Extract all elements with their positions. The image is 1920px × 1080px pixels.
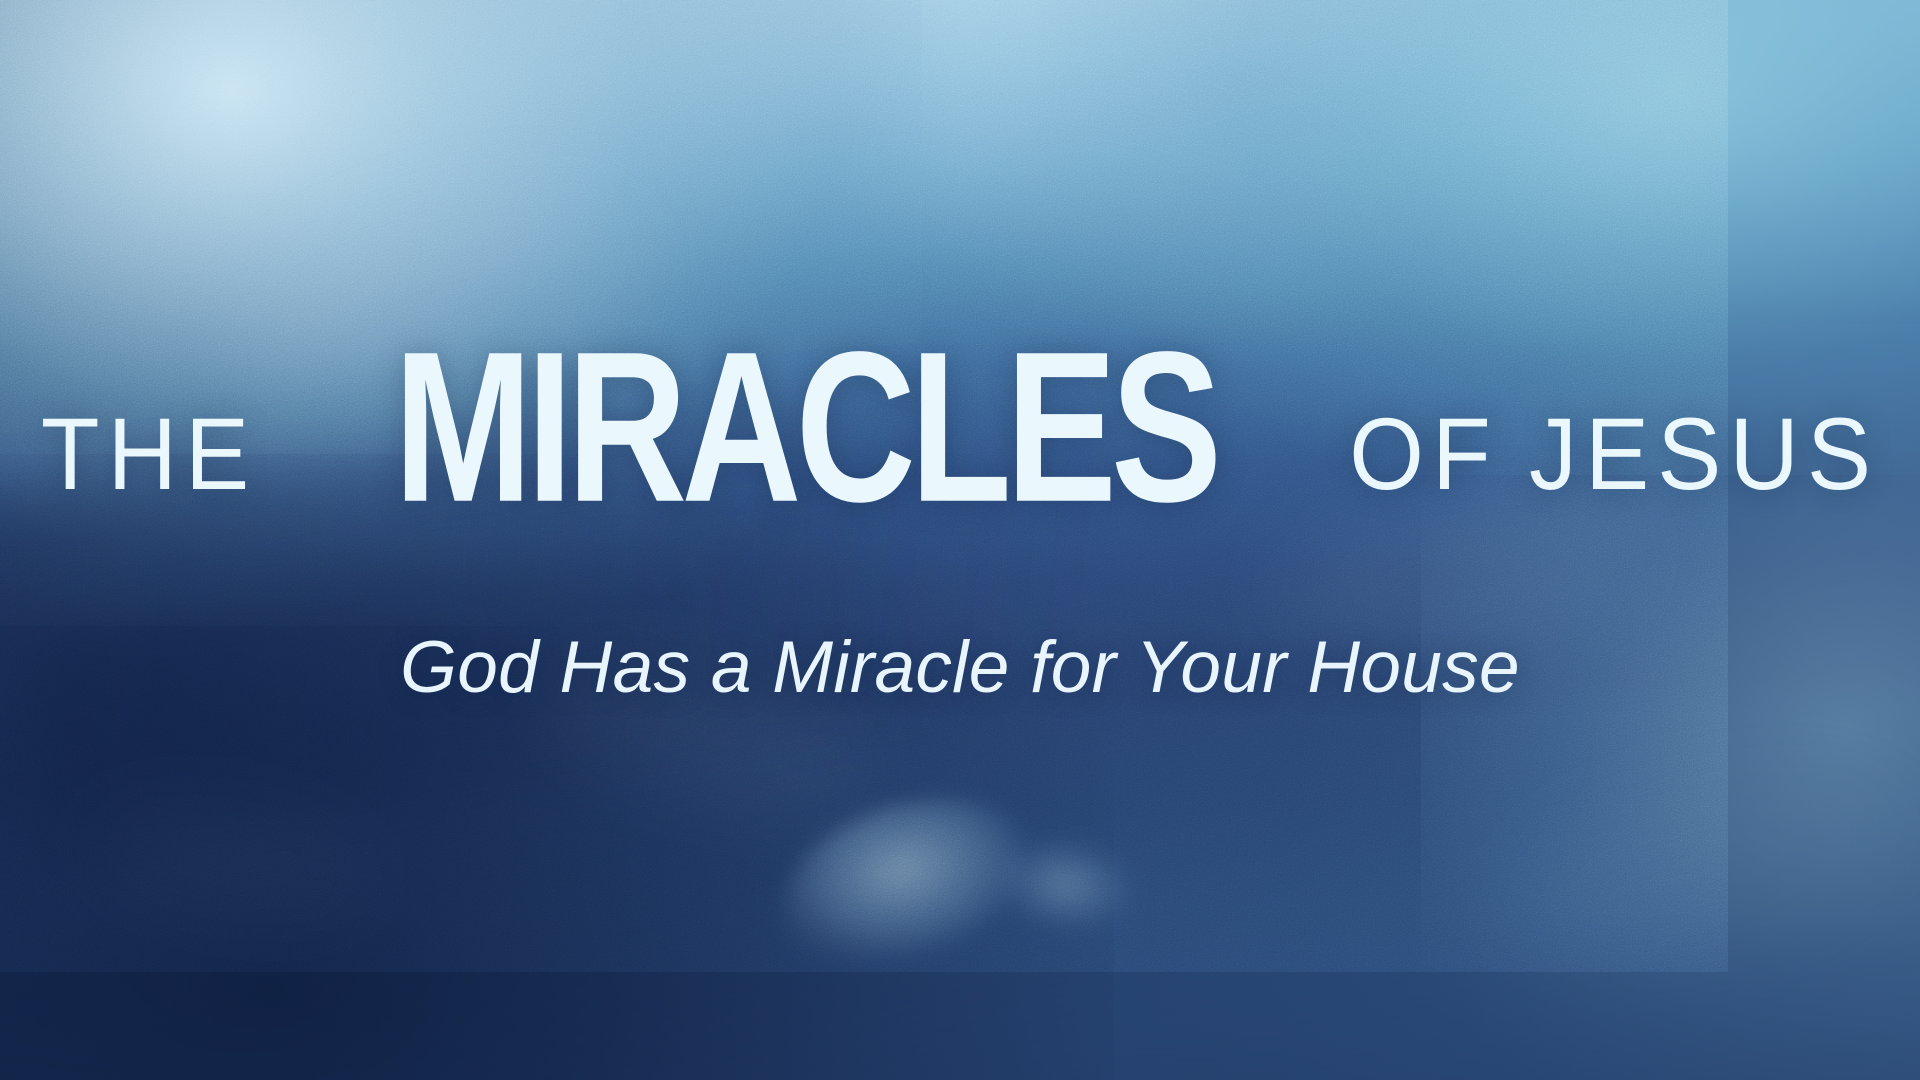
series-title: THE MIRACLES OF JESUS bbox=[41, 335, 1879, 503]
title-word-miracles: MIRACLES bbox=[394, 344, 1216, 511]
slide-content: THE MIRACLES OF JESUS God Has a Miracle … bbox=[0, 0, 1920, 1080]
title-word-jesus: JESUS bbox=[1529, 404, 1879, 506]
title-word-the: THE bbox=[41, 404, 257, 506]
title-word-of: OF bbox=[1349, 404, 1499, 506]
series-subtitle: God Has a Miracle for Your House bbox=[400, 631, 1520, 704]
title-slide: THE MIRACLES OF JESUS God Has a Miracle … bbox=[0, 0, 1920, 1080]
